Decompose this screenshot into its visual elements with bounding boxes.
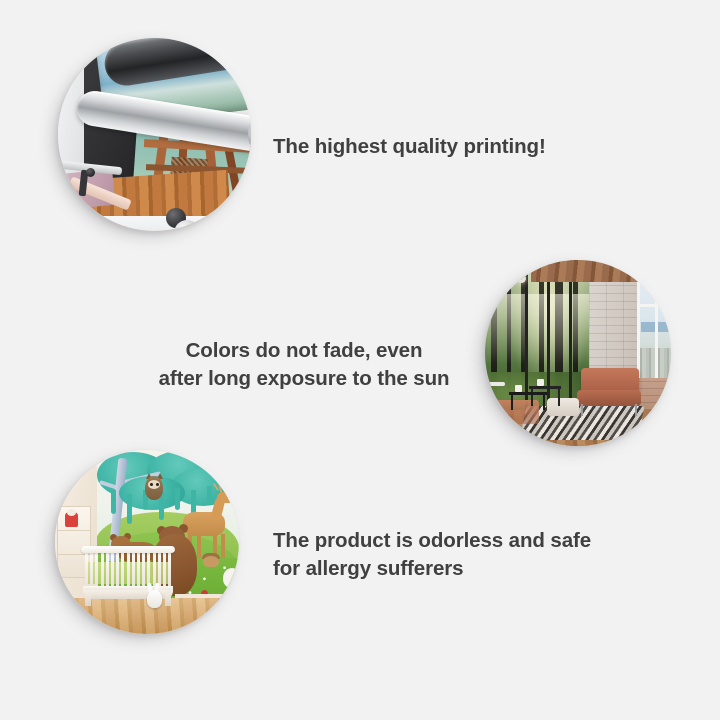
feature-image-fade (485, 260, 671, 446)
crib-slat (132, 552, 135, 588)
feature-collage: The highest quality printing! (0, 0, 720, 720)
crib-slat (101, 552, 104, 588)
living-room-forest-mural-photo (485, 260, 671, 446)
crib-slat (137, 552, 140, 588)
crib-slat (111, 552, 114, 588)
feature-caption-fade: Colors do not fade, even after long expo… (150, 337, 458, 393)
feature-caption-odorless: The product is odorless and safe for all… (273, 527, 591, 583)
crib-slat (168, 552, 171, 588)
crib-slat (116, 552, 119, 588)
crib-slat (106, 552, 109, 588)
crib-slat (127, 552, 130, 588)
feature-image-odorless (55, 450, 239, 634)
feature-image-printing (58, 38, 251, 231)
crib-slat (163, 552, 166, 588)
crib-slat (85, 552, 88, 588)
crib-slat (95, 552, 98, 588)
crib-slat (121, 552, 124, 588)
crib-slat (90, 552, 93, 588)
nursery-animal-mural-photo (55, 450, 239, 634)
crib-slat (142, 552, 145, 588)
feature-caption-printing: The highest quality printing! (273, 133, 546, 161)
printing-machine-photo (58, 38, 251, 231)
